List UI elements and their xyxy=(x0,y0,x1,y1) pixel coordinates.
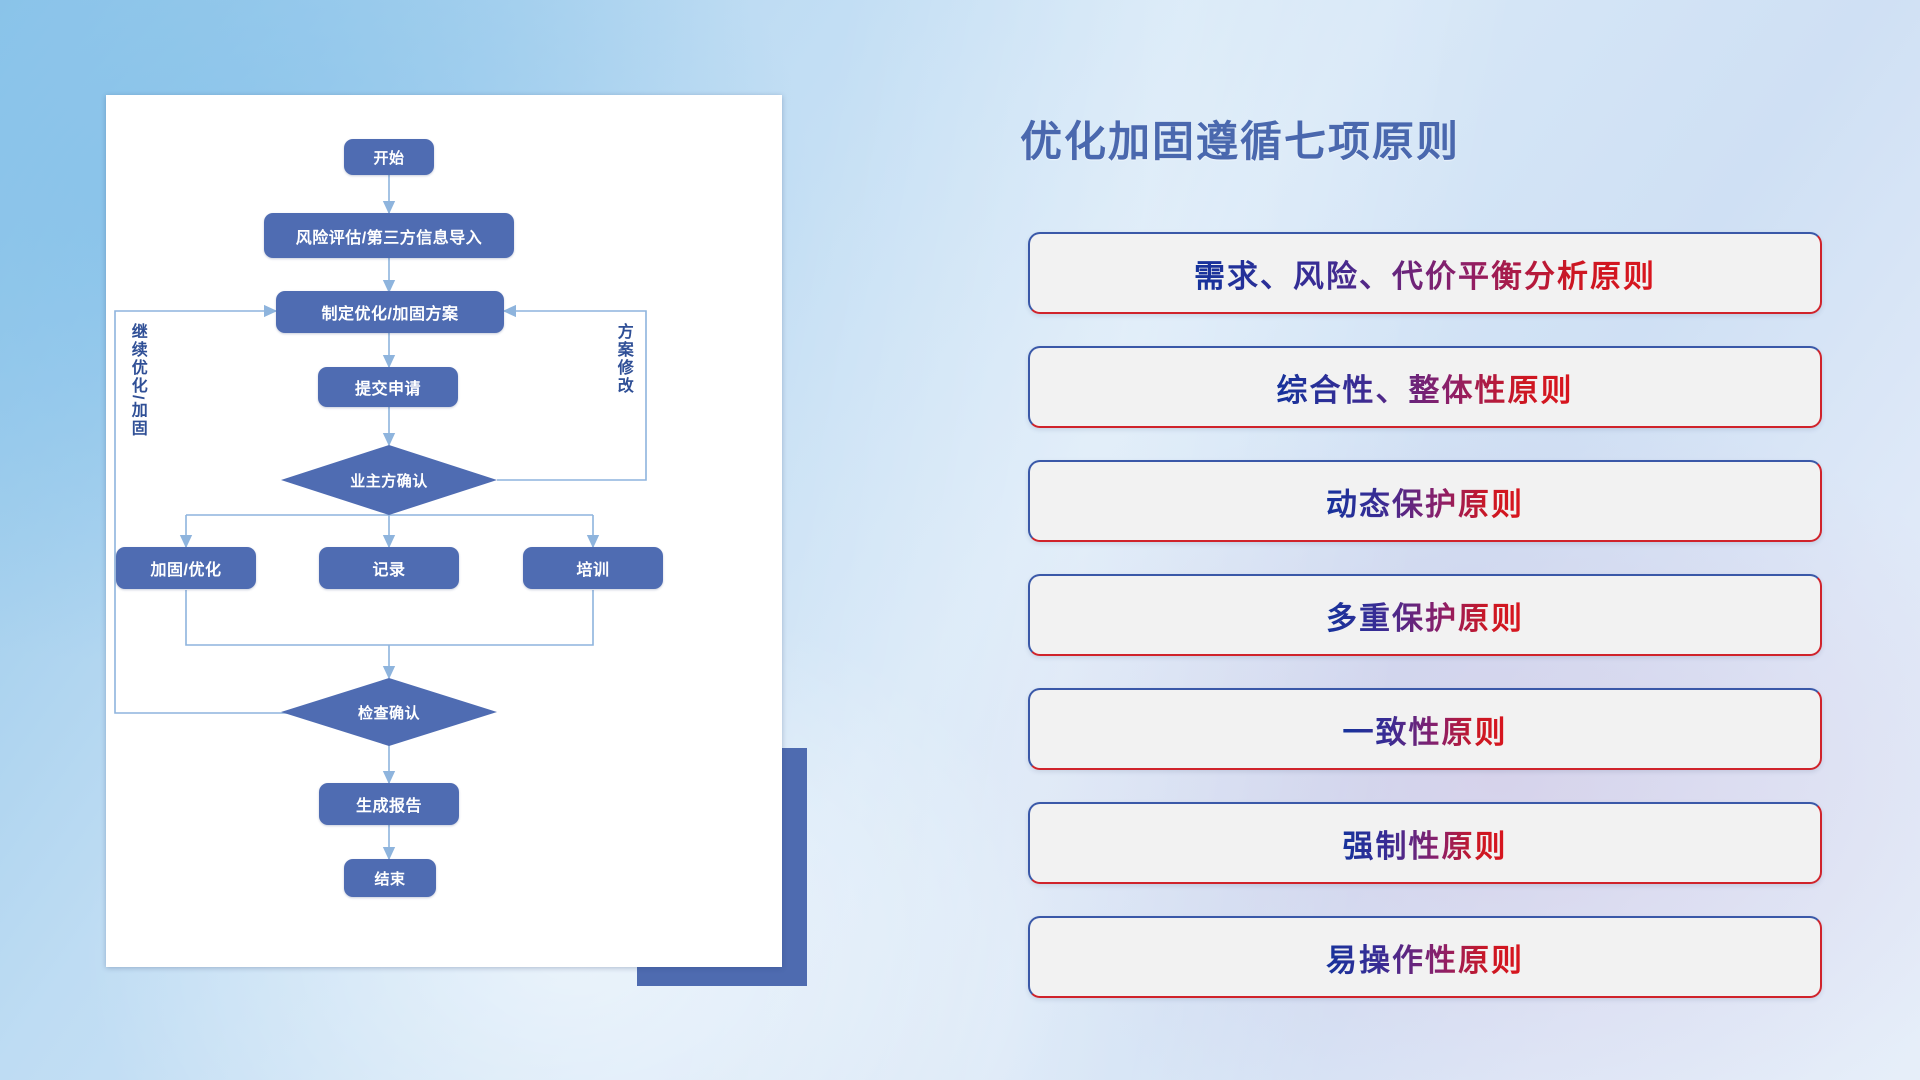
edge-label-continue-optimize: 继续优化/加固 xyxy=(128,323,145,463)
flow-node-label: 提交申请 xyxy=(355,375,421,399)
flow-node-owner-confirm[interactable]: 业主方确认 xyxy=(281,445,497,515)
flow-node-check-confirm[interactable]: 检查确认 xyxy=(281,678,497,746)
flow-node-reinforce-optimize[interactable]: 加固/优化 xyxy=(116,547,256,589)
flow-node-generate-report[interactable]: 生成报告 xyxy=(319,783,459,825)
principle-label: 综合性、整体性原则 xyxy=(1277,365,1574,410)
flow-node-label: 加固/优化 xyxy=(151,556,222,580)
flow-node-plan[interactable]: 制定优化/加固方案 xyxy=(276,291,504,333)
principle-card[interactable]: 需求、风险、代价平衡分析原则 xyxy=(1028,232,1822,314)
principle-label: 动态保护原则 xyxy=(1326,479,1524,524)
principle-label: 易操作性原则 xyxy=(1326,935,1524,980)
principle-card[interactable]: 一致性原则 xyxy=(1028,688,1822,770)
flow-node-risk-assessment[interactable]: 风险评估/第三方信息导入 xyxy=(264,213,514,258)
principle-card[interactable]: 强制性原则 xyxy=(1028,802,1822,884)
flow-node-submit-application[interactable]: 提交申请 xyxy=(318,367,458,407)
flow-node-label: 业主方确认 xyxy=(350,470,428,491)
flow-node-label: 培训 xyxy=(576,556,609,580)
principle-label: 需求、风险、代价平衡分析原则 xyxy=(1194,251,1656,296)
flow-node-label: 制定优化/加固方案 xyxy=(322,300,459,324)
flow-node-start[interactable]: 开始 xyxy=(344,139,434,175)
principles-list: 需求、风险、代价平衡分析原则 综合性、整体性原则 动态保护原则 多重保护原则 一… xyxy=(1028,232,1822,1030)
principle-card[interactable]: 多重保护原则 xyxy=(1028,574,1822,656)
principle-label: 强制性原则 xyxy=(1343,821,1508,866)
edge-label-plan-revision: 方案修改 xyxy=(614,323,631,433)
flowchart-panel: 开始 风险评估/第三方信息导入 制定优化/加固方案 提交申请 业主方确认 加固/… xyxy=(106,95,782,967)
principle-card[interactable]: 综合性、整体性原则 xyxy=(1028,346,1822,428)
flow-node-end[interactable]: 结束 xyxy=(344,859,436,897)
flow-node-label: 开始 xyxy=(373,147,404,168)
flow-node-training[interactable]: 培训 xyxy=(523,547,663,589)
principle-card[interactable]: 易操作性原则 xyxy=(1028,916,1822,998)
principle-card[interactable]: 动态保护原则 xyxy=(1028,460,1822,542)
page-title: 优化加固遵循七项原则 xyxy=(1020,108,1460,169)
flow-node-label: 生成报告 xyxy=(356,792,422,816)
edge-label-text: 继续优化/加固 xyxy=(129,323,146,437)
flow-node-label: 记录 xyxy=(372,556,405,580)
flow-node-label: 检查确认 xyxy=(358,702,420,723)
principle-label: 一致性原则 xyxy=(1343,707,1508,752)
flow-node-label: 结束 xyxy=(374,868,405,889)
flow-node-record[interactable]: 记录 xyxy=(319,547,459,589)
principle-label: 多重保护原则 xyxy=(1326,593,1524,638)
flow-node-label: 风险评估/第三方信息导入 xyxy=(296,224,482,248)
edge-label-text: 方案修改 xyxy=(615,323,632,395)
